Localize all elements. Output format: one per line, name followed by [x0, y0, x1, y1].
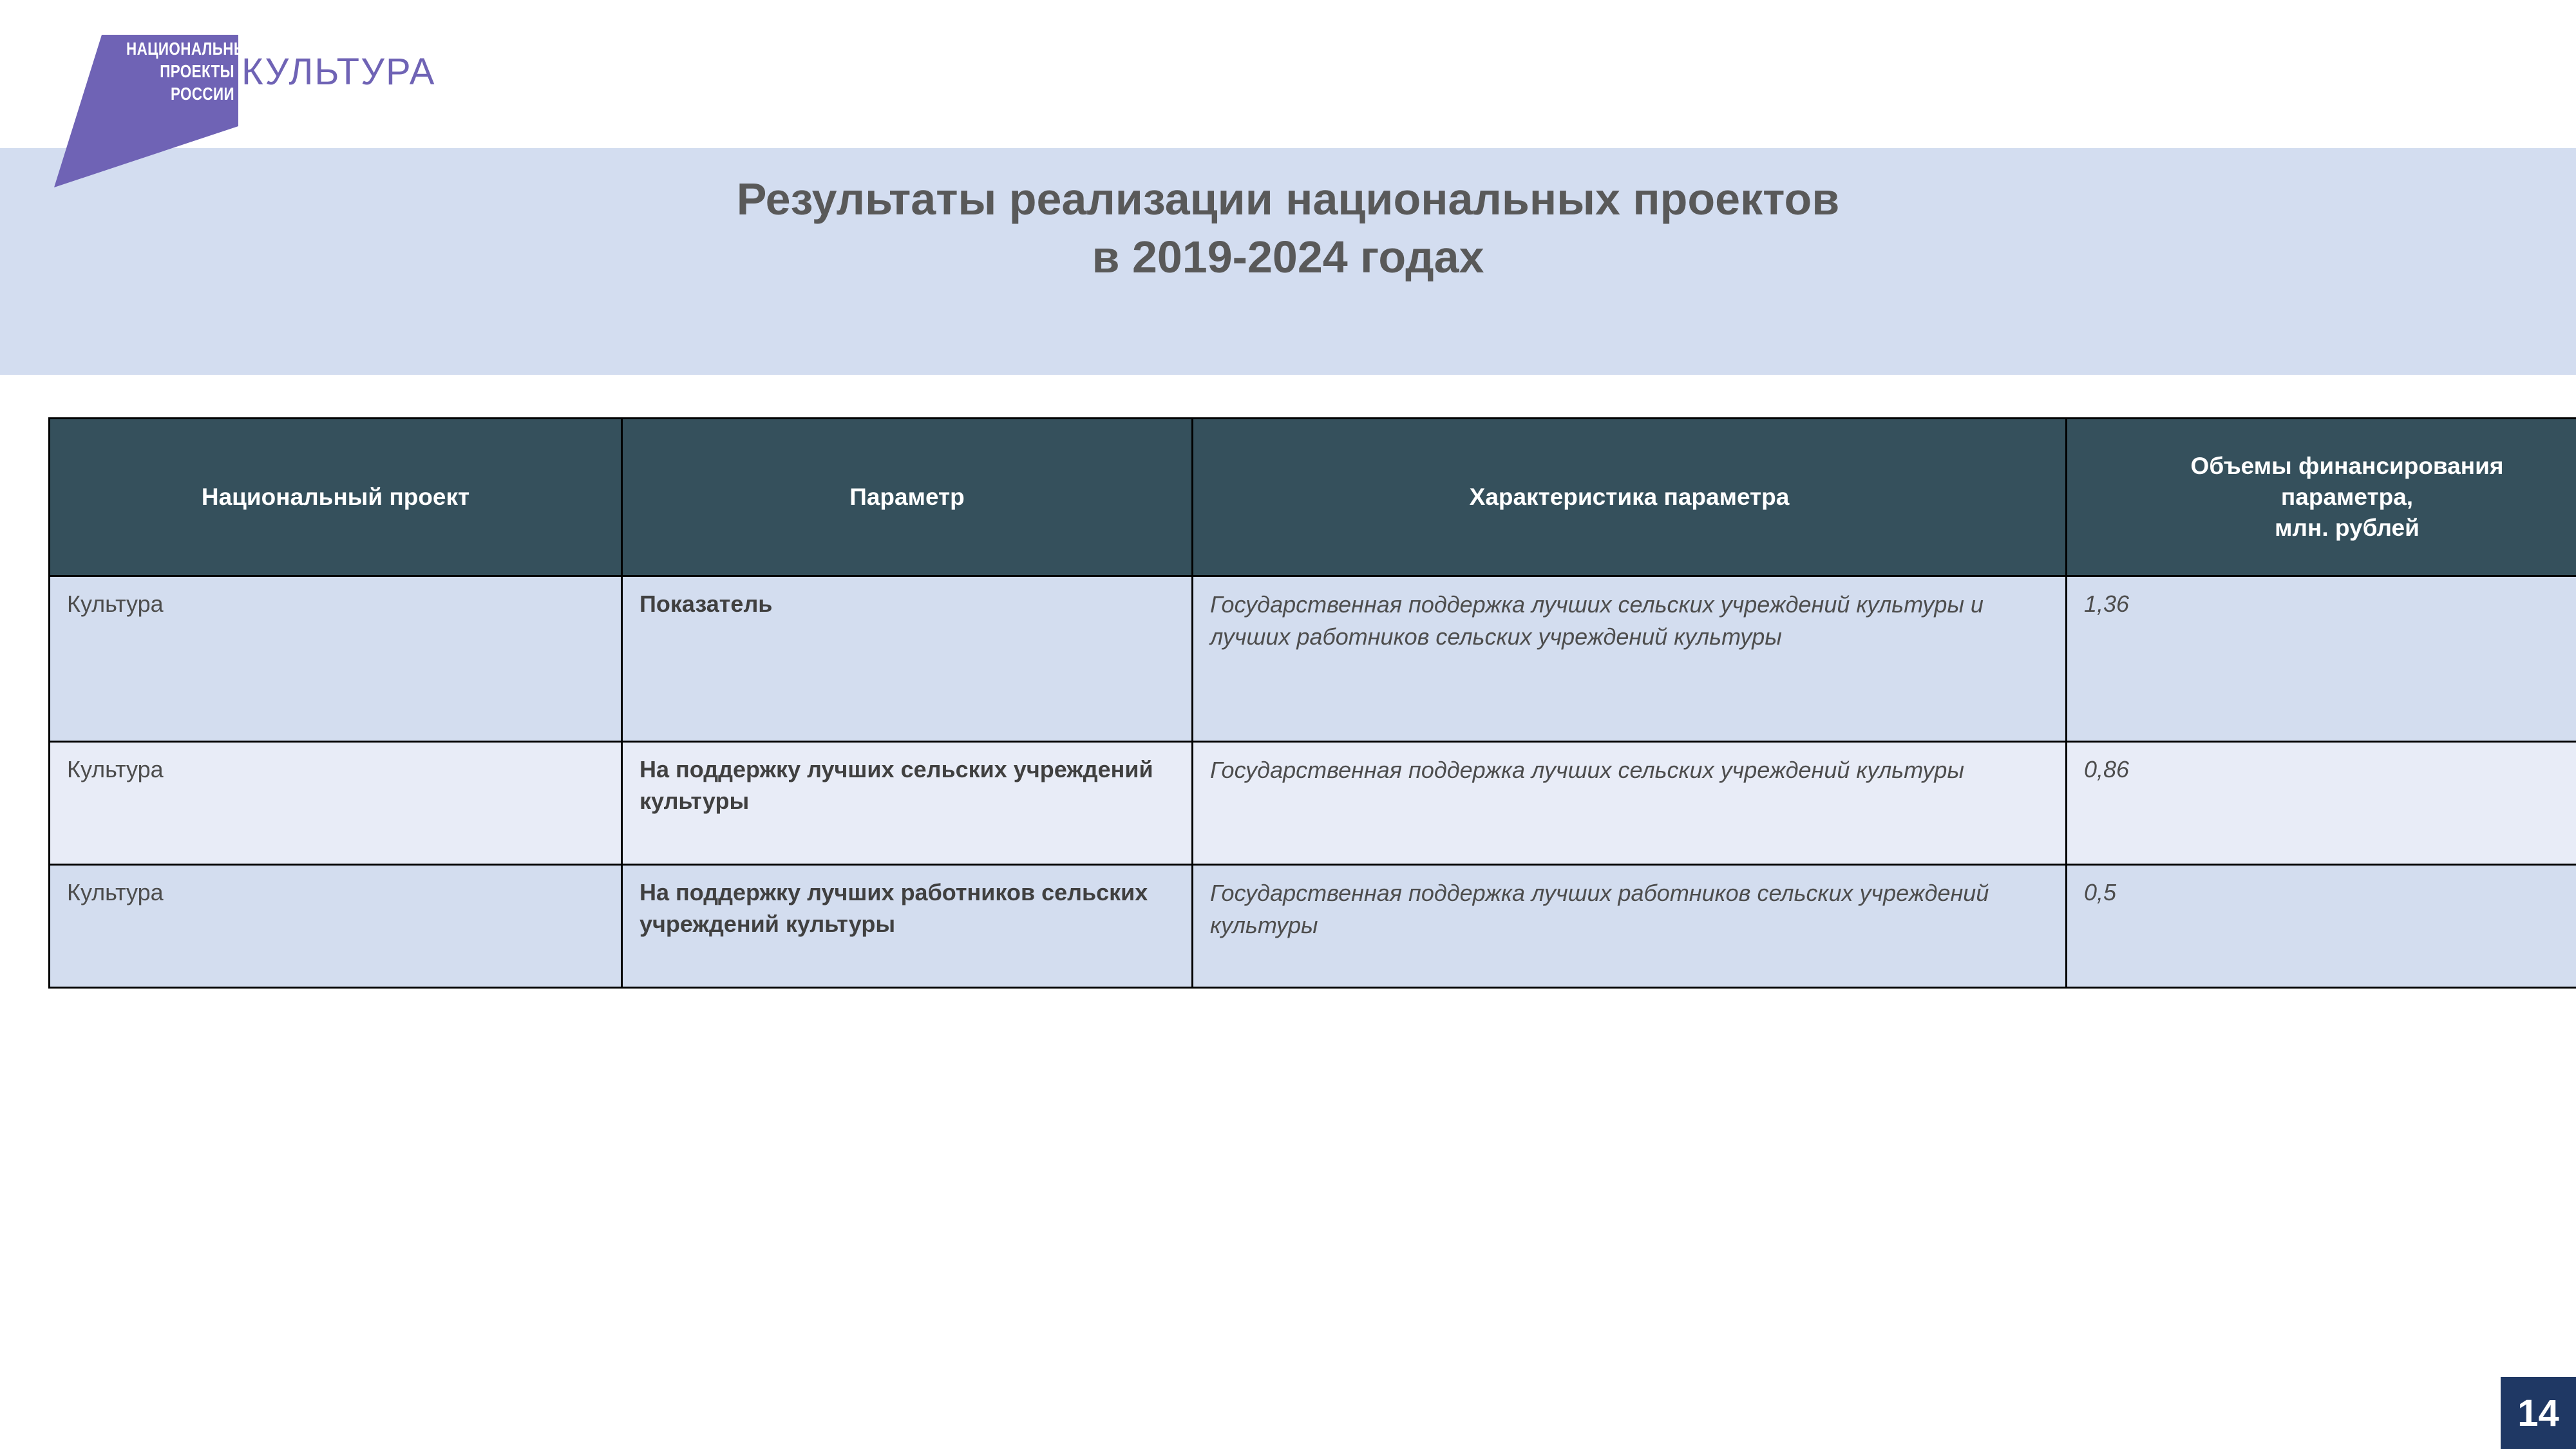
cell-amount: 1,36: [2067, 576, 2576, 742]
cell-characteristic: Государственная поддержка лучших сельски…: [1193, 576, 2067, 742]
page-number-badge: 14: [2501, 1377, 2576, 1449]
table-header-row: Национальный проект Параметр Характерист…: [50, 419, 2576, 576]
cell-characteristic: Государственная поддержка лучших работни…: [1193, 865, 2067, 988]
national-projects-logo: [52, 35, 238, 189]
table-row: Культура Показатель Государственная подд…: [50, 576, 2576, 742]
column-header-project: Национальный проект: [50, 419, 622, 576]
page-title: Результаты реализации национальных проек…: [0, 171, 2576, 286]
cell-parameter: На поддержку лучших работников сельских …: [622, 865, 1193, 988]
table-head: Национальный проект Параметр Характерист…: [50, 419, 2576, 576]
cell-parameter: Показатель: [622, 576, 1193, 742]
column-header-characteristic: Характеристика параметра: [1193, 419, 2067, 576]
brand-name: КУЛЬТУРА: [241, 50, 435, 93]
cell-characteristic: Государственная поддержка лучших сельски…: [1193, 742, 2067, 865]
cell-project: Культура: [50, 576, 622, 742]
cell-project: Культура: [50, 742, 622, 865]
logo-polygon-icon: [52, 35, 238, 189]
column-header-parameter: Параметр: [622, 419, 1193, 576]
cell-project: Культура: [50, 865, 622, 988]
table-body: Культура Показатель Государственная подд…: [50, 576, 2576, 988]
cell-parameter: На поддержку лучших сельских учреждений …: [622, 742, 1193, 865]
results-table-wrap: Национальный проект Параметр Характерист…: [48, 417, 2526, 989]
column-header-funding: Объемы финансирования параметра, млн. ру…: [2067, 419, 2576, 576]
cell-amount: 0,5: [2067, 865, 2576, 988]
cell-amount: 0,86: [2067, 742, 2576, 865]
table-row: Культура На поддержку лучших сельских уч…: [50, 742, 2576, 865]
results-table: Национальный проект Параметр Характерист…: [48, 417, 2576, 989]
table-row: Культура На поддержку лучших работников …: [50, 865, 2576, 988]
